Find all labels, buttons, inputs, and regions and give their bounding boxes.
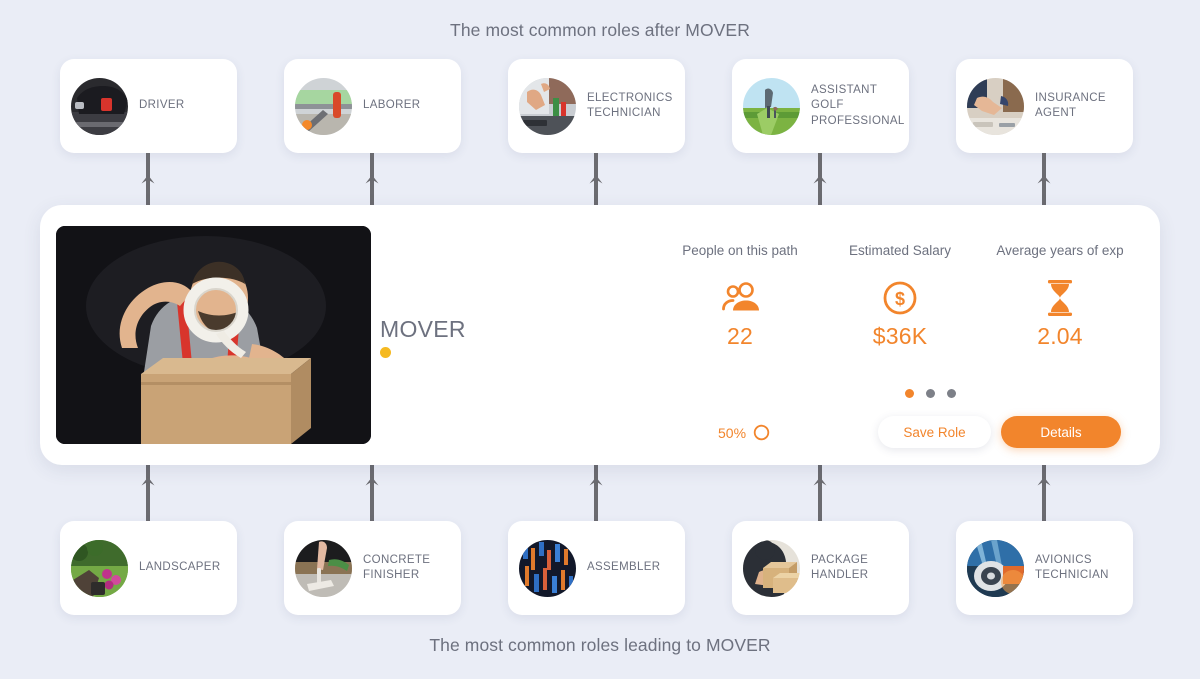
connector-arrow-up-5 bbox=[1037, 153, 1051, 205]
connector-arrow-up-7 bbox=[365, 465, 379, 521]
role-card-label: ASSEMBLER bbox=[587, 560, 660, 575]
stat-value: $36K bbox=[820, 323, 980, 350]
connector-arrow-up-9 bbox=[813, 465, 827, 521]
role-card-electronics-technician[interactable]: ELECTRONICS TECHNICIAN bbox=[508, 59, 685, 153]
role-card-package-handler[interactable]: PACKAGE HANDLER bbox=[732, 521, 909, 615]
role-card-landscaper[interactable]: LANDSCAPER bbox=[60, 521, 237, 615]
progress-ring-icon bbox=[753, 424, 770, 441]
role-card-insurance-agent[interactable]: INSURANCE AGENT bbox=[956, 59, 1133, 153]
save-role-button[interactable]: Save Role bbox=[878, 416, 991, 448]
handshake-desk-photo bbox=[967, 78, 1024, 135]
role-card-avionics-technician[interactable]: AVIONICS TECHNICIAN bbox=[956, 521, 1133, 615]
connector-arrow-up-1 bbox=[141, 153, 155, 205]
role-card-label: ELECTRONICS TECHNICIAN bbox=[587, 91, 675, 121]
carousel-dot-1[interactable] bbox=[905, 389, 914, 398]
card-actions: Save Role Details bbox=[878, 416, 1121, 448]
airplane-engine-photo bbox=[967, 540, 1024, 597]
progress-label: 50% bbox=[718, 425, 746, 441]
roles-before-row: LANDSCAPER CONCRETE FINISHER ASSEMBLER P… bbox=[0, 521, 1200, 615]
role-card-concrete-finisher[interactable]: CONCRETE FINISHER bbox=[284, 521, 461, 615]
connector-arrow-up-3 bbox=[589, 153, 603, 205]
role-card-label: INSURANCE AGENT bbox=[1035, 91, 1123, 121]
details-button[interactable]: Details bbox=[1001, 416, 1121, 448]
stat-average-years-exp: Average years of exp 2.04 bbox=[980, 243, 1140, 350]
role-status-dot bbox=[380, 347, 391, 358]
role-card-assembler[interactable]: ASSEMBLER bbox=[508, 521, 685, 615]
connector-arrow-up-10 bbox=[1037, 465, 1051, 521]
car-rear-photo bbox=[71, 78, 128, 135]
role-card-label: LABORER bbox=[363, 98, 420, 113]
svg-text:$: $ bbox=[895, 289, 905, 309]
bottom-section-title: The most common roles leading to MOVER bbox=[0, 635, 1200, 656]
welding-torch-photo bbox=[295, 78, 352, 135]
role-stats: People on this path 22 Estimated Salary bbox=[660, 243, 1140, 350]
connector-arrow-up-2 bbox=[365, 153, 379, 205]
role-card-label: AVIONICS TECHNICIAN bbox=[1035, 553, 1123, 583]
hourglass-icon bbox=[980, 278, 1140, 318]
role-card-label: CONCRETE FINISHER bbox=[363, 553, 451, 583]
dollar-circle-icon: $ bbox=[820, 278, 980, 318]
stat-value: 2.04 bbox=[980, 323, 1140, 350]
carousel-dots[interactable] bbox=[870, 389, 990, 398]
role-card-label: ASSISTANT GOLF PROFESSIONAL bbox=[811, 83, 905, 129]
concrete-trowel-photo bbox=[295, 540, 352, 597]
stat-people-on-path: People on this path 22 bbox=[660, 243, 820, 350]
top-section-title: The most common roles after MOVER bbox=[0, 20, 1200, 41]
carousel-dot-3[interactable] bbox=[947, 389, 956, 398]
role-card-label: LANDSCAPER bbox=[139, 560, 220, 575]
garden-flowers-photo bbox=[71, 540, 128, 597]
role-card-label: DRIVER bbox=[139, 98, 185, 113]
connector-arrow-up-4 bbox=[813, 153, 827, 205]
stat-value: 22 bbox=[660, 323, 820, 350]
circuit-board-photo bbox=[519, 540, 576, 597]
roles-after-row: DRIVER LABORER ELECTRONICS TECHNICIAN AS… bbox=[0, 59, 1200, 153]
connector-arrow-up-8 bbox=[589, 465, 603, 521]
golf-course-photo bbox=[743, 78, 800, 135]
boxes-delivery-photo bbox=[743, 540, 800, 597]
people-icon bbox=[660, 278, 820, 318]
stat-label: People on this path bbox=[660, 243, 820, 258]
stat-label: Average years of exp bbox=[980, 243, 1140, 258]
role-card-assistant-golf-professional[interactable]: ASSISTANT GOLF PROFESSIONAL bbox=[732, 59, 909, 153]
stat-label: Estimated Salary bbox=[820, 243, 980, 258]
match-progress: 50% bbox=[718, 424, 770, 441]
page-title: MOVER bbox=[380, 316, 466, 343]
career-path-view: The most common roles after MOVER DRIVER… bbox=[0, 0, 1200, 679]
current-role-card: MOVER People on this path 22 Estimated S… bbox=[40, 205, 1160, 465]
role-card-laborer[interactable]: LABORER bbox=[284, 59, 461, 153]
mover-with-tape-and-box-photo bbox=[56, 226, 371, 444]
stat-estimated-salary: Estimated Salary $ $36K bbox=[820, 243, 980, 350]
electronics-bench-photo bbox=[519, 78, 576, 135]
connector-arrow-up-6 bbox=[141, 465, 155, 521]
role-card-label: PACKAGE HANDLER bbox=[811, 553, 899, 583]
role-card-driver[interactable]: DRIVER bbox=[60, 59, 237, 153]
carousel-dot-2[interactable] bbox=[926, 389, 935, 398]
